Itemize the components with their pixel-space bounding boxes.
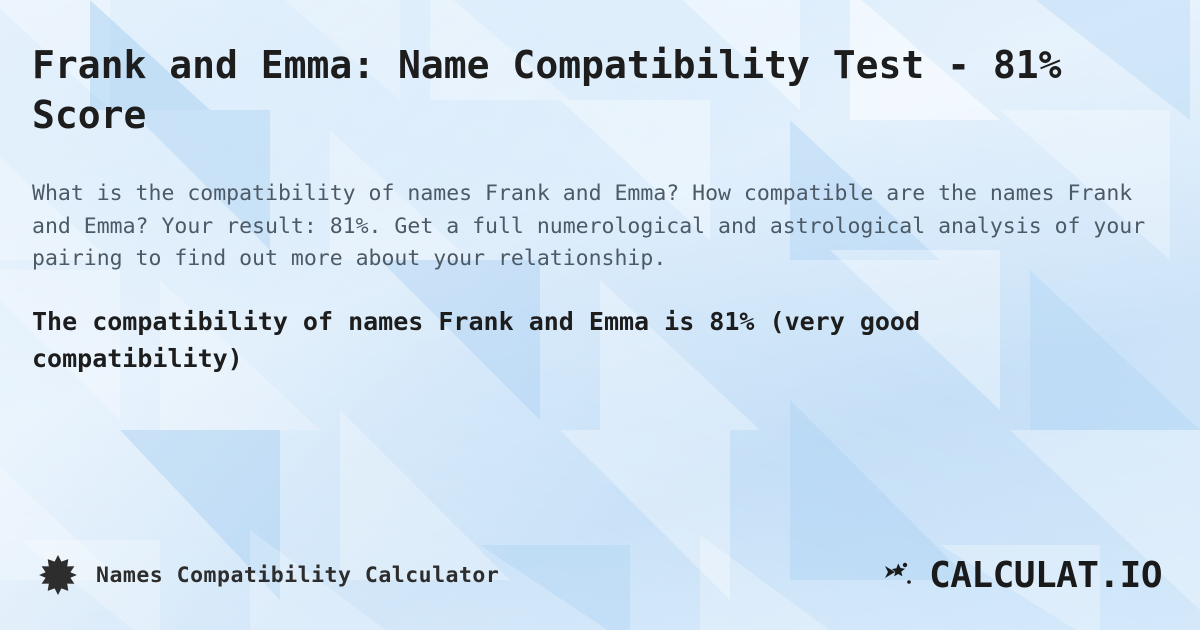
page-description: What is the compatibility of names Frank… <box>32 178 1168 275</box>
footer: Names Compatibility Calculator CALCULAT.… <box>0 520 1200 630</box>
footer-label: Names Compatibility Calculator <box>96 563 499 588</box>
page-canvas: Frank and Emma: Name Compatibility Test … <box>0 0 1200 630</box>
sparkle-star-icon <box>38 555 78 595</box>
footer-branding-left: Names Compatibility Calculator <box>38 555 499 595</box>
hand-pointer-icon <box>881 558 919 592</box>
compatibility-result: The compatibility of names Frank and Emm… <box>32 303 1132 377</box>
brand-text: CALCULAT.IO <box>929 555 1162 596</box>
main-content: Frank and Emma: Name Compatibility Test … <box>0 0 1200 377</box>
brand-logo: CALCULAT.IO <box>881 555 1162 596</box>
page-title: Frank and Emma: Name Compatibility Test … <box>32 40 1092 140</box>
